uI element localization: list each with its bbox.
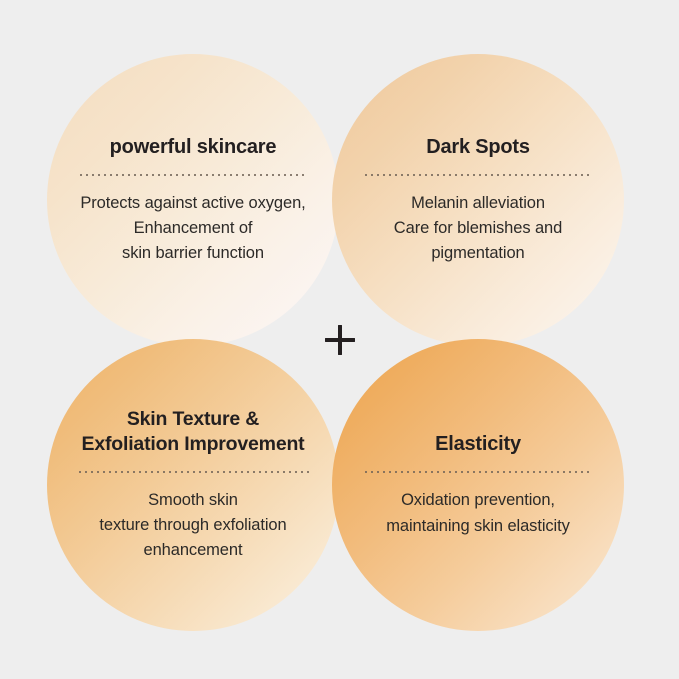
card-body-text: Smooth skin texture through exfoliation … [99,488,286,563]
card-title: Elasticity [435,431,521,457]
dotted-divider [78,174,308,176]
card-body-text: Oxidation prevention, maintaining skin e… [386,488,569,538]
benefits-infographic: powerful skincare Protects against activ… [0,0,679,679]
card-body-text: Melanin alleviation Care for blemishes a… [394,191,562,266]
card-title: powerful skincare [110,134,277,160]
benefit-card-skin-texture-exfoliation: Skin Texture & Exfoliation Improvement S… [47,339,339,631]
card-title: Dark Spots [426,134,530,160]
card-title: Skin Texture & Exfoliation Improvement [82,407,305,458]
dotted-divider [77,471,309,473]
card-content: Elasticity Oxidation prevention, maintai… [353,431,603,538]
card-body-text: Protects against active oxygen, Enhancem… [80,191,305,266]
plus-icon-vertical-bar [338,325,341,355]
plus-icon [325,325,355,355]
benefit-card-powerful-skincare: powerful skincare Protects against activ… [47,54,339,346]
dotted-divider [363,471,593,473]
card-content: Skin Texture & Exfoliation Improvement S… [59,407,327,564]
benefit-card-elasticity: Elasticity Oxidation prevention, maintai… [332,339,624,631]
dotted-divider [363,174,593,176]
benefit-card-dark-spots: Dark Spots Melanin alleviation Care for … [332,54,624,346]
card-content: powerful skincare Protects against activ… [68,134,318,266]
card-content: Dark Spots Melanin alleviation Care for … [353,134,603,266]
